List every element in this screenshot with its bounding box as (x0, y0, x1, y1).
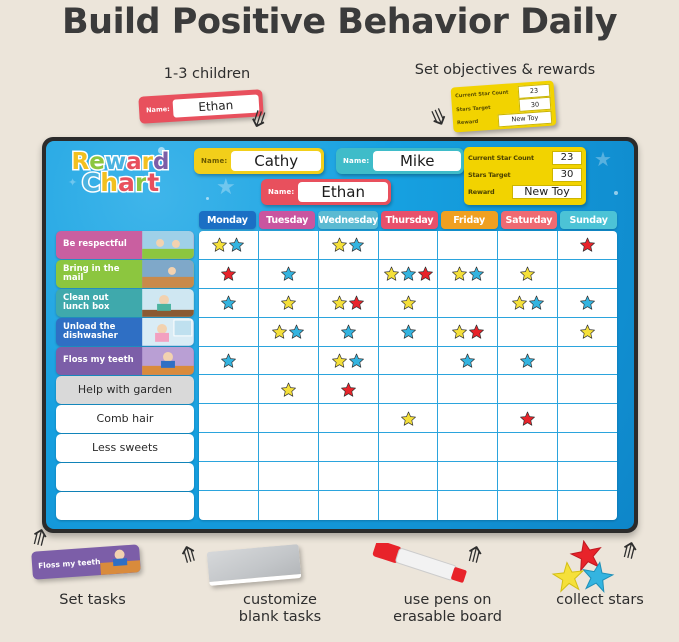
task-illustration (142, 231, 194, 259)
objective-value[interactable]: 23 (552, 151, 582, 165)
grid-cell-r7-c4[interactable] (438, 433, 498, 462)
grid-cell-r1-c2[interactable] (319, 260, 379, 289)
grid-cell-r0-c0[interactable] (199, 231, 259, 260)
grid-cell-r8-c0[interactable] (199, 462, 259, 491)
name-plate-ethan[interactable]: Name: Ethan (261, 179, 391, 205)
decor-star-icon: ★ (594, 149, 612, 169)
task-column: Be respectfulBring in the mailClean out … (56, 231, 194, 521)
grid-cell-r6-c2[interactable] (319, 404, 379, 433)
star-yellow-icon[interactable] (281, 295, 296, 310)
star-blue-icon[interactable] (529, 295, 544, 310)
grid-cell-r9-c0[interactable] (199, 491, 259, 520)
callout-name-tag: Name: (143, 104, 173, 114)
grid-cell-r6-c6[interactable] (558, 404, 617, 433)
name-plate-tag: Name: (197, 155, 231, 167)
grid-cell-r4-c0[interactable] (199, 347, 259, 376)
objective-key: Reward (468, 188, 512, 196)
star-red-icon[interactable] (469, 324, 484, 339)
arrow-down-icon: ⤋ (426, 105, 452, 133)
task-illustration (142, 260, 194, 288)
chart-table: MondayTuesdayWednesdayThursdayFridaySatu… (56, 211, 624, 519)
task-label: Bring in the mail (56, 265, 135, 284)
objective-key: Current Star Count (468, 154, 552, 162)
grid-cell-r3-c3[interactable] (379, 318, 439, 347)
name-plate-cathy[interactable]: Name: Cathy (194, 148, 324, 174)
callout-name-card: Name: Ethan (138, 89, 263, 124)
grid-cell-r9-c1[interactable] (259, 491, 319, 520)
grid-cell-r6-c0[interactable] (199, 404, 259, 433)
star-grid (199, 231, 617, 520)
grid-cell-r6-c4[interactable] (438, 404, 498, 433)
star-yellow-icon[interactable] (332, 237, 347, 252)
grid-cell-r4-c6[interactable] (558, 347, 617, 376)
grid-cell-r3-c6[interactable] (558, 318, 617, 347)
star-blue-icon[interactable] (221, 353, 236, 368)
grid-cell-r2-c0[interactable] (199, 289, 259, 318)
grid-cell-r4-c5[interactable] (498, 347, 558, 376)
star-yellow-icon[interactable] (332, 353, 347, 368)
star-yellow-icon[interactable] (520, 266, 535, 281)
star-yellow-icon[interactable] (452, 266, 467, 281)
grid-cell-r3-c5[interactable] (498, 318, 558, 347)
name-plate-value[interactable]: Mike (373, 151, 461, 171)
name-plate-tag: Name: (339, 155, 373, 167)
grid-row (199, 289, 617, 318)
grid-cell-r7-c6[interactable] (558, 433, 617, 462)
star-yellow-icon[interactable] (401, 295, 416, 310)
grid-cell-r8-c3[interactable] (379, 462, 439, 491)
objective-row-reward: Reward New Toy (468, 184, 582, 199)
star-yellow-icon[interactable] (401, 411, 416, 426)
objective-value[interactable]: 30 (552, 168, 582, 182)
grid-cell-r0-c1[interactable] (259, 231, 319, 260)
grid-cell-r0-c4[interactable] (438, 231, 498, 260)
grid-cell-r6-c1[interactable] (259, 404, 319, 433)
grid-cell-r8-c5[interactable] (498, 462, 558, 491)
task-label: Less sweets (56, 442, 194, 454)
star-yellow-icon[interactable] (332, 295, 347, 310)
star-yellow-icon[interactable] (212, 237, 227, 252)
star-blue-icon[interactable] (401, 324, 416, 339)
objective-key: Stars Target (468, 171, 552, 179)
grid-cell-r6-c3[interactable] (379, 404, 439, 433)
objective-value[interactable]: New Toy (512, 185, 582, 199)
star-yellow-icon[interactable] (281, 382, 296, 397)
grid-cell-r4-c2[interactable] (319, 347, 379, 376)
star-red-icon[interactable] (349, 295, 364, 310)
grid-cell-r1-c3[interactable] (379, 260, 439, 289)
board-surface: ✦ ★ ★ ★ Reward Chart Name: Cathy Name: M… (46, 141, 634, 529)
task-label: Clean out lunch box (56, 294, 135, 313)
sticker-illustration (99, 544, 141, 575)
name-plate-tag: Name: (264, 186, 298, 198)
callout-objective-key: Stars Target (456, 102, 519, 112)
grid-cell-r7-c3[interactable] (379, 433, 439, 462)
grid-cell-r0-c3[interactable] (379, 231, 439, 260)
star-blue-icon[interactable] (281, 266, 296, 281)
star-blue-icon[interactable] (401, 266, 416, 281)
grid-cell-r5-c5[interactable] (498, 375, 558, 404)
grid-cell-r9-c5[interactable] (498, 491, 558, 520)
grid-cell-r9-c2[interactable] (319, 491, 379, 520)
task-row-6[interactable]: Comb hair (56, 405, 194, 433)
grid-cell-r5-c4[interactable] (438, 375, 498, 404)
grid-cell-r4-c1[interactable] (259, 347, 319, 376)
grid-cell-r2-c1[interactable] (259, 289, 319, 318)
task-row-3[interactable]: Unload the dishwasher (56, 318, 194, 346)
name-plate-mike[interactable]: Name: Mike (336, 148, 464, 174)
star-blue-icon[interactable] (221, 295, 236, 310)
star-yellow-icon[interactable] (580, 324, 595, 339)
task-row-9[interactable] (56, 492, 194, 520)
grid-cell-r9-c3[interactable] (379, 491, 439, 520)
star-blue-icon[interactable] (460, 353, 475, 368)
star-red-icon[interactable] (341, 382, 356, 397)
grid-row (199, 375, 617, 404)
star-blue-icon[interactable] (520, 353, 535, 368)
grid-row (199, 231, 617, 260)
grid-cell-r8-c1[interactable] (259, 462, 319, 491)
grid-cell-r8-c6[interactable] (558, 462, 617, 491)
objective-row-stars-target: Stars Target 30 (468, 167, 582, 182)
task-illustration (142, 318, 194, 346)
grid-cell-r1-c0[interactable] (199, 260, 259, 289)
callout-objective-key: Reward (457, 117, 498, 126)
marker-pen-illustration (360, 543, 500, 588)
grid-cell-r1-c6[interactable] (558, 260, 617, 289)
grid-cell-r7-c5[interactable] (498, 433, 558, 462)
star-yellow-icon[interactable] (384, 266, 399, 281)
grid-cell-r5-c3[interactable] (379, 375, 439, 404)
grid-cell-r1-c4[interactable] (438, 260, 498, 289)
arrow-up-icon: ⤊ (177, 543, 201, 569)
task-row-0[interactable]: Be respectful (56, 231, 194, 259)
day-header-thursday: Thursday (381, 211, 438, 229)
grid-cell-r7-c0[interactable] (199, 433, 259, 462)
reward-chart-board: ✦ ★ ★ ★ Reward Chart Name: Cathy Name: M… (42, 137, 638, 533)
grid-cell-r2-c2[interactable] (319, 289, 379, 318)
task-sticker-floss[interactable]: Floss my teeth (31, 544, 141, 579)
grid-row (199, 404, 617, 433)
caption-use-pens: use pens on erasable board (355, 592, 540, 625)
grid-cell-r1-c5[interactable] (498, 260, 558, 289)
grid-cell-r8-c2[interactable] (319, 462, 379, 491)
grid-cell-r4-c4[interactable] (438, 347, 498, 376)
decor-star-icon: ★ (216, 177, 236, 199)
star-red-icon[interactable] (580, 237, 595, 252)
grid-row (199, 347, 617, 376)
grid-cell-r4-c3[interactable] (379, 347, 439, 376)
grid-cell-r2-c4[interactable] (438, 289, 498, 318)
grid-cell-r7-c1[interactable] (259, 433, 319, 462)
day-header-wednesday: Wednesday (318, 211, 378, 229)
name-plate-value[interactable]: Cathy (231, 151, 321, 171)
day-header-monday: Monday (199, 211, 256, 229)
grid-cell-r6-c5[interactable] (498, 404, 558, 433)
task-label: Help with garden (56, 384, 194, 396)
grid-cell-r0-c6[interactable] (558, 231, 617, 260)
star-yellow-icon[interactable] (512, 295, 527, 310)
grid-cell-r2-c3[interactable] (379, 289, 439, 318)
day-header-sunday: Sunday (560, 211, 617, 229)
reward-chart-logo: Reward Chart (58, 149, 183, 197)
grid-cell-r1-c1[interactable] (259, 260, 319, 289)
caption-set-tasks: Set tasks (15, 592, 170, 609)
task-illustration (142, 347, 194, 375)
star-yellow-icon[interactable] (272, 324, 287, 339)
star-blue-icon[interactable] (341, 324, 356, 339)
name-plate-value[interactable]: Ethan (298, 182, 388, 202)
task-row-1[interactable]: Bring in the mail (56, 260, 194, 288)
grid-row (199, 318, 617, 347)
callout-children-label: 1-3 children (112, 66, 302, 82)
star-blue-icon[interactable] (289, 324, 304, 339)
star-red-icon[interactable] (221, 266, 236, 281)
callout-objective-value: New Toy (498, 110, 553, 127)
objective-row-star-count: Current Star Count 23 (468, 150, 582, 165)
grid-cell-r0-c2[interactable] (319, 231, 379, 260)
grid-cell-r5-c6[interactable] (558, 375, 617, 404)
star-blue-icon[interactable] (349, 353, 364, 368)
eraser-illustration (207, 544, 302, 586)
caption-collect-stars: collect stars (525, 592, 675, 609)
objective-panel: Current Star Count 23 Stars Target 30 Re… (464, 147, 586, 205)
star-blue-icon[interactable] (580, 295, 595, 310)
callout-objective-card: Current Star Count 23 Stars Target 30 Re… (451, 80, 557, 132)
star-red-icon[interactable] (520, 411, 535, 426)
caption-customize: customize blank tasks (195, 592, 365, 625)
task-row-7[interactable]: Less sweets (56, 434, 194, 462)
grid-row (199, 433, 617, 462)
grid-cell-r2-c5[interactable] (498, 289, 558, 318)
callout-name-value: Ethan (172, 94, 259, 117)
task-label: Be respectful (56, 240, 127, 249)
star-blue-icon[interactable] (229, 237, 244, 252)
task-illustration (142, 289, 194, 317)
grid-cell-r5-c1[interactable] (259, 375, 319, 404)
grid-cell-r9-c4[interactable] (438, 491, 498, 520)
task-row-2[interactable]: Clean out lunch box (56, 289, 194, 317)
task-row-5[interactable]: Help with garden (56, 376, 194, 404)
decor-dot (614, 191, 618, 195)
page-title: Build Positive Behavior Daily (0, 2, 679, 42)
callout-objective-key: Current Star Count (455, 89, 518, 99)
grid-row (199, 462, 617, 491)
grid-cell-r3-c1[interactable] (259, 318, 319, 347)
grid-cell-r3-c4[interactable] (438, 318, 498, 347)
task-label: Comb hair (56, 413, 194, 425)
day-header-tuesday: Tuesday (259, 211, 316, 229)
star-yellow-icon[interactable] (452, 324, 467, 339)
task-label: Unload the dishwasher (56, 323, 135, 342)
grid-cell-r3-c2[interactable] (319, 318, 379, 347)
grid-cell-r5-c0[interactable] (199, 375, 259, 404)
task-row-8[interactable] (56, 463, 194, 491)
day-header-row: MondayTuesdayWednesdayThursdayFridaySatu… (199, 211, 617, 229)
arrow-up-icon: ⤊ (28, 526, 51, 552)
collect-stars-illustration (548, 540, 638, 595)
grid-row (199, 260, 617, 289)
decor-dot (206, 197, 209, 200)
day-header-saturday: Saturday (501, 211, 558, 229)
grid-cell-r2-c6[interactable] (558, 289, 617, 318)
grid-cell-r9-c6[interactable] (558, 491, 617, 520)
grid-cell-r8-c4[interactable] (438, 462, 498, 491)
star-blue-icon[interactable] (469, 266, 484, 281)
grid-cell-r7-c2[interactable] (319, 433, 379, 462)
grid-cell-r3-c0[interactable] (199, 318, 259, 347)
callout-objectives-label: Set objectives & rewards (380, 62, 630, 78)
task-label: Floss my teeth (56, 356, 134, 365)
grid-cell-r0-c5[interactable] (498, 231, 558, 260)
grid-cell-r5-c2[interactable] (319, 375, 379, 404)
task-sticker-label: Floss my teeth (32, 557, 101, 571)
star-red-icon[interactable] (418, 266, 433, 281)
task-row-4[interactable]: Floss my teeth (56, 347, 194, 375)
day-header-friday: Friday (441, 211, 498, 229)
star-blue-icon[interactable] (349, 237, 364, 252)
grid-row (199, 491, 617, 520)
